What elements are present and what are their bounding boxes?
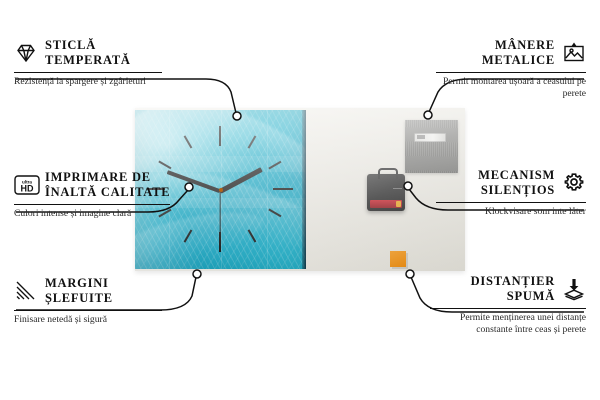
hanger-slot: [414, 133, 446, 142]
ultra-hd-icon: ultra HD: [14, 173, 38, 197]
callout-point-edges: [193, 270, 201, 278]
clock-right-edge: [302, 110, 306, 269]
feature-description: Rezistență la spargere și zgârieturi: [14, 76, 164, 88]
feature-title: IMPRIMARE DEÎNALTĂ CALITATE: [45, 170, 170, 200]
feature-divider: [436, 72, 586, 73]
second-hand: [219, 190, 220, 252]
infographic-canvas: STICLĂTEMPERATĂ Rezistență la spargere ș…: [0, 0, 600, 400]
glass-reflection: [267, 110, 268, 269]
feature-description: Culori intense și imagine clară: [14, 208, 172, 220]
hour-tick-12: [219, 126, 221, 146]
polished-edge-icon: [14, 279, 38, 303]
feature-handles: MÂNEREMETALICE Permit montarea ușoară a …: [436, 38, 586, 100]
feature-description: Permite menținerea unei distanțe constan…: [430, 312, 586, 337]
feature-mechanism: MECANISMSILENȚIOS Klockvisare som inte l…: [436, 168, 586, 218]
svg-text:HD: HD: [21, 183, 34, 193]
feature-print: ultra HD IMPRIMARE DEÎNALTĂ CALITATE Cul…: [14, 170, 172, 220]
feature-title: MARGINIȘLEFUITE: [45, 276, 113, 306]
feature-title: MÂNEREMETALICE: [482, 38, 555, 68]
product-photo: [135, 108, 465, 271]
feature-title: STICLĂTEMPERATĂ: [45, 38, 131, 68]
metal-hanger-plate: [405, 120, 458, 173]
feature-edges: MARGINIȘLEFUITE Finisare netedă și sigur…: [14, 276, 164, 326]
gear-icon: [562, 171, 586, 195]
feature-description: Finisare netedă și sigură: [14, 314, 164, 326]
feature-divider: [436, 202, 586, 203]
callout-point-spacer: [406, 270, 414, 278]
foam-spacer: [390, 251, 406, 267]
mechanism-hook: [378, 168, 398, 179]
mechanism-detail: [393, 188, 402, 189]
diamond-icon: [14, 41, 38, 65]
feature-glass: STICLĂTEMPERATĂ Rezistență la spargere ș…: [14, 38, 164, 88]
hour-tick-3: [273, 188, 293, 190]
picture-frame-icon: [562, 41, 586, 65]
feature-description: Klockvisare som inte låter: [436, 206, 586, 218]
feature-divider: [14, 310, 162, 311]
feature-divider: [14, 204, 170, 205]
battery: [370, 200, 402, 208]
press-down-icon: [562, 277, 586, 301]
feature-description: Permit montarea ușoară a ceasului pe per…: [436, 76, 586, 101]
clock-mechanism: [367, 174, 405, 211]
feature-divider: [430, 308, 586, 309]
feature-title: MECANISMSILENȚIOS: [478, 168, 555, 198]
hands-center-cap: [219, 188, 223, 192]
feature-divider: [14, 72, 162, 73]
feature-spacer: DISTANȚIERSPUMĂ Permite menținerea unei …: [430, 274, 586, 336]
feature-title: DISTANȚIERSPUMĂ: [471, 274, 555, 304]
